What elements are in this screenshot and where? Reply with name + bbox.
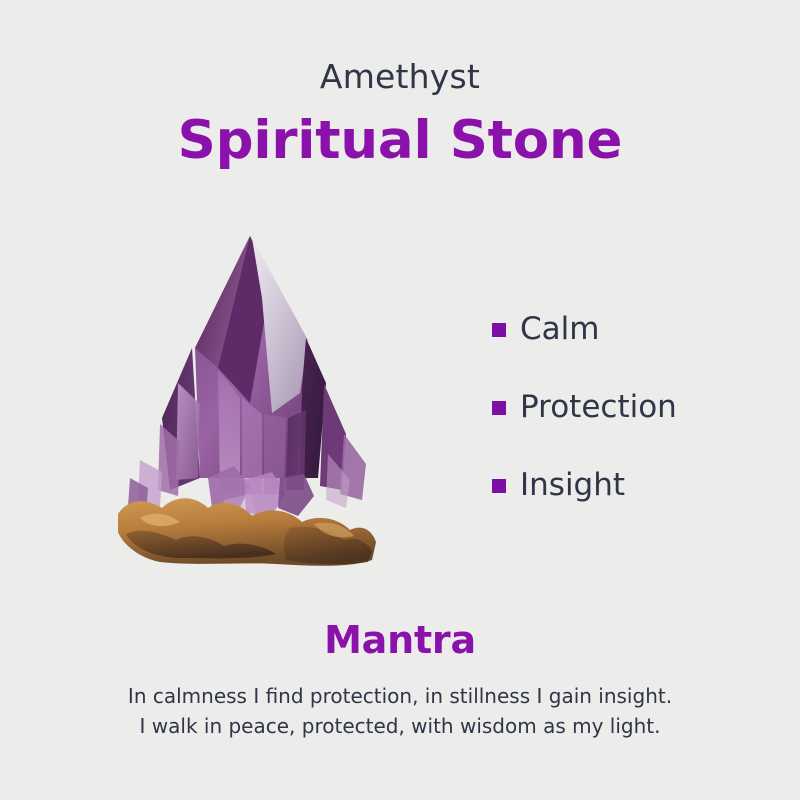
- mantra-heading: Mantra: [0, 618, 800, 664]
- mantra-line-2: I walk in peace, protected, with wisdom …: [0, 711, 800, 741]
- page-title: Spiritual Stone: [0, 111, 800, 170]
- crystal-illustration-icon: [100, 228, 400, 573]
- mantra-text: In calmness I find protection, in stilln…: [0, 681, 800, 742]
- mantra-section: Mantra In calmness I find protection, in…: [0, 618, 800, 741]
- benefits-list: Calm Protection Insight: [492, 290, 782, 524]
- amethyst-crystal-image: [100, 228, 400, 573]
- list-item: Calm: [492, 290, 782, 368]
- list-item: Protection: [492, 368, 782, 446]
- mantra-line-1: In calmness I find protection, in stilln…: [0, 681, 800, 711]
- benefit-label-insight: Insight: [520, 468, 625, 502]
- benefit-label-protection: Protection: [520, 390, 677, 424]
- list-item: Insight: [492, 446, 782, 524]
- benefit-label-calm: Calm: [520, 312, 599, 346]
- stone-name-eyebrow: Amethyst: [0, 58, 800, 97]
- square-bullet-icon: [492, 323, 506, 337]
- card-header: Amethyst Spiritual Stone: [0, 58, 800, 170]
- card-body: Calm Protection Insight: [0, 228, 800, 578]
- square-bullet-icon: [492, 401, 506, 415]
- square-bullet-icon: [492, 479, 506, 493]
- amethyst-info-card: Amethyst Spiritual Stone: [0, 0, 800, 800]
